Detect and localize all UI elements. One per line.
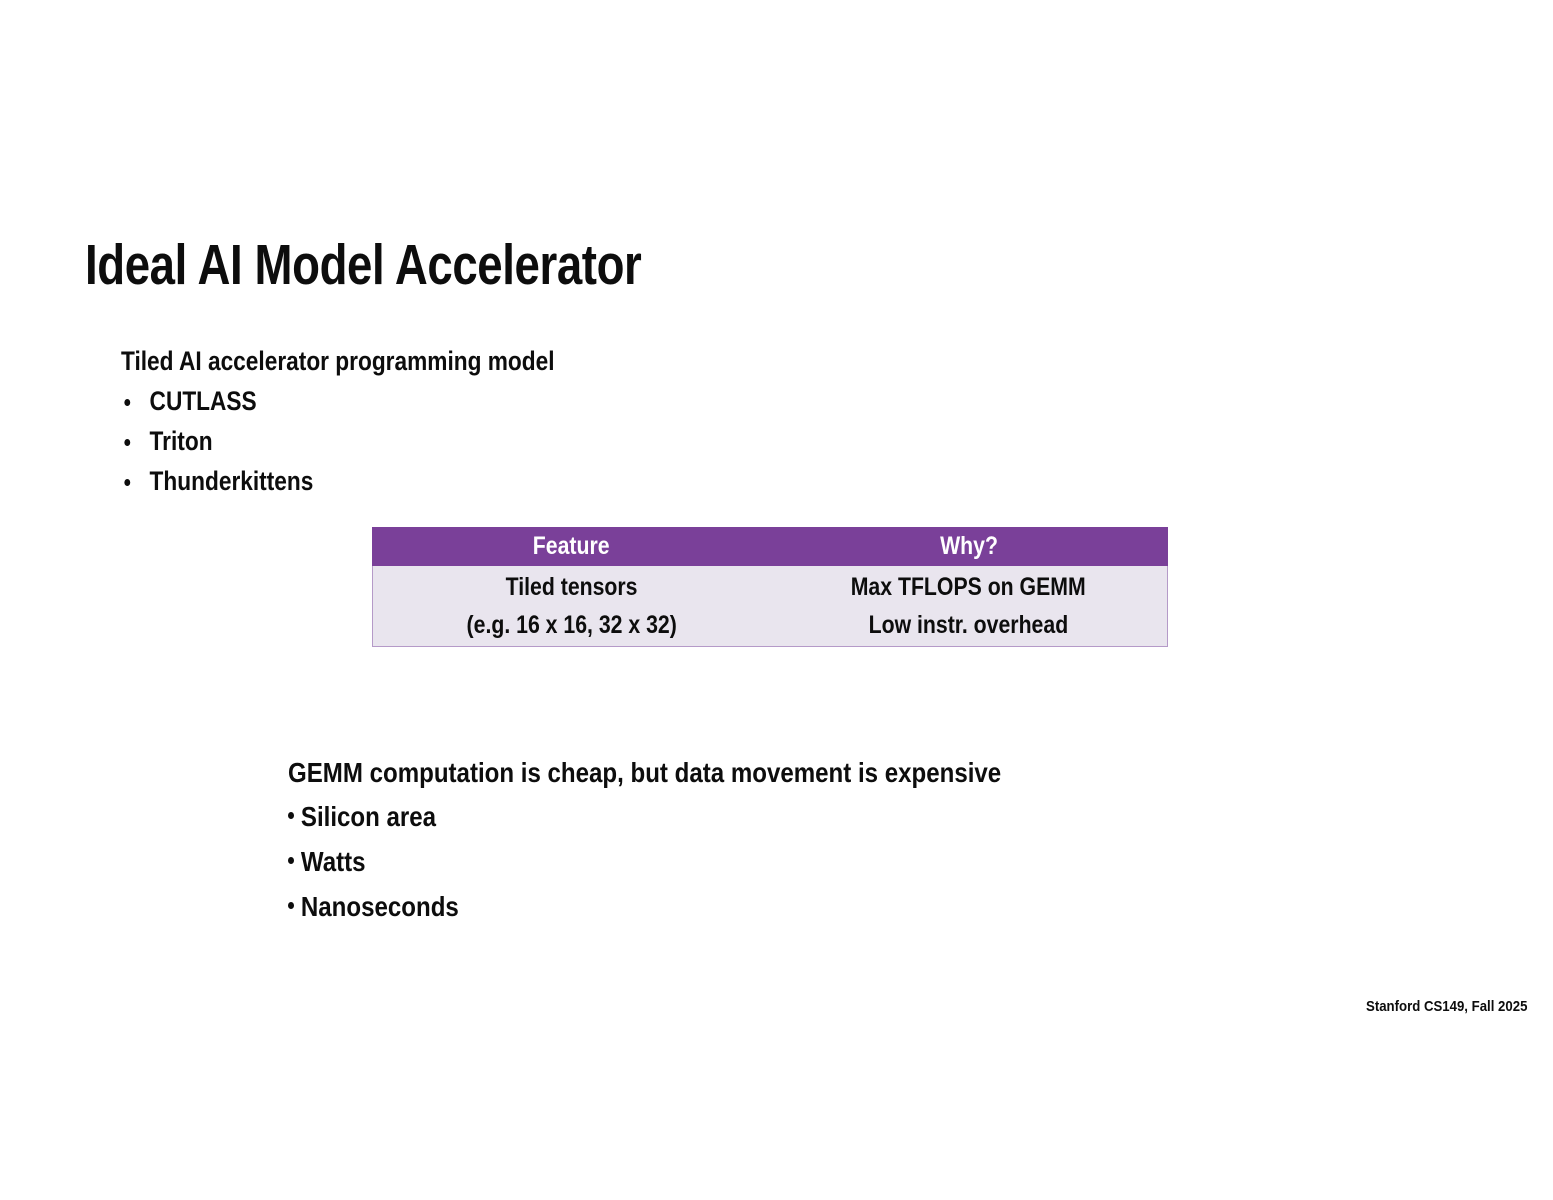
list-item-label: Nanoseconds <box>301 891 459 922</box>
slide-canvas: Ideal AI Model Accelerator Tiled AI acce… <box>0 0 1553 1200</box>
page-title: Ideal AI Model Accelerator <box>85 236 641 296</box>
list-item: Nanoseconds <box>288 893 1062 921</box>
bullet-dot-icon <box>288 857 294 864</box>
table-cell-feature: Tiled tensors (e.g. 16 x 16, 32 x 32) <box>373 568 770 644</box>
bullet-dot-icon <box>124 399 130 406</box>
bullet-dot-icon <box>288 902 294 909</box>
bullet-dot-icon <box>288 812 294 819</box>
slide-footer: Stanford CS149, Fall 2025 <box>1366 998 1527 1015</box>
list-item: Silicon area <box>288 803 1062 831</box>
list-item-label: Thunderkittens <box>150 466 314 496</box>
section-data-movement-cost: GEMM computation is cheap, but data move… <box>288 759 1188 938</box>
section-tiled-programming-model: Tiled AI accelerator programming model C… <box>121 348 881 508</box>
feature-why-table: Feature Why? Tiled tensors (e.g. 16 x 16… <box>372 527 1168 647</box>
table-header-why: Why? <box>770 534 1168 559</box>
section-two-heading: GEMM computation is cheap, but data move… <box>288 759 1062 787</box>
list-item-label: CUTLASS <box>150 386 257 416</box>
table-row: Tiled tensors (e.g. 16 x 16, 32 x 32) Ma… <box>372 566 1168 647</box>
table-header-feature: Feature <box>372 534 770 559</box>
table-cell-why: Max TFLOPS on GEMM Low instr. overhead <box>770 568 1167 644</box>
list-item: Triton <box>121 428 759 455</box>
section-one-heading: Tiled AI accelerator programming model <box>121 348 759 375</box>
list-item: Watts <box>288 848 1062 876</box>
section-one-bullet-list: CUTLASS Triton Thunderkittens <box>121 388 881 495</box>
list-item: Thunderkittens <box>121 468 759 495</box>
list-item-label: Triton <box>150 426 213 456</box>
list-item-label: Watts <box>301 846 366 877</box>
list-item: CUTLASS <box>121 388 759 415</box>
list-item-label: Silicon area <box>301 801 436 832</box>
bullet-dot-icon <box>124 479 130 486</box>
table-header-row: Feature Why? <box>372 527 1168 566</box>
bullet-dot-icon <box>124 439 130 446</box>
section-two-bullet-list: Silicon area Watts Nanoseconds <box>288 803 1188 921</box>
